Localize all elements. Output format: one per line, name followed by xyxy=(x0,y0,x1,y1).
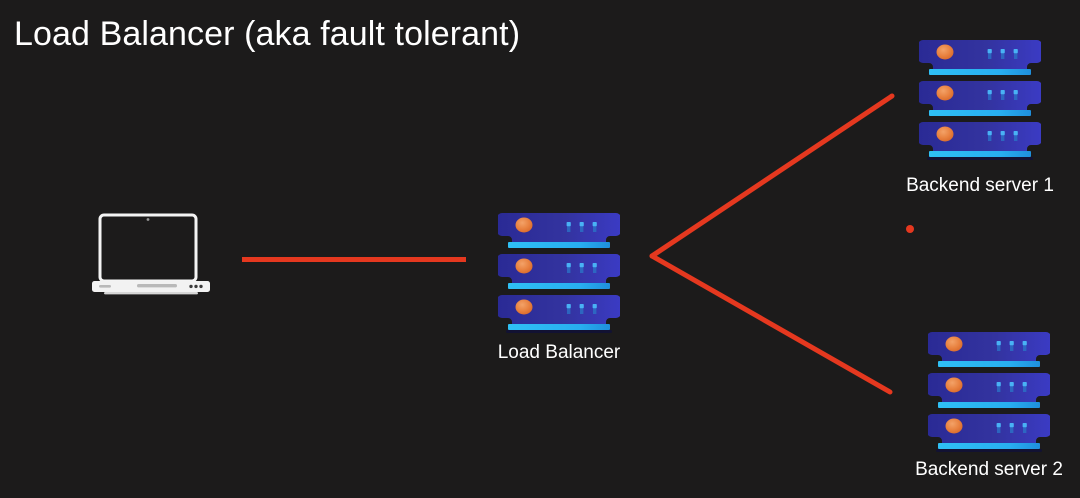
backend-server-2-label: Backend server 2 xyxy=(915,458,1063,482)
server-unit-2 xyxy=(919,81,1041,116)
connector-load-balancer-to-backend-2 xyxy=(652,256,890,392)
rack-base-shadow xyxy=(927,157,1033,160)
server-unit-2 xyxy=(498,254,620,289)
rack-base-shadow xyxy=(936,449,1042,452)
load-balancer-node[interactable]: Load Balancer xyxy=(498,211,620,333)
backend-server-1-label: Backend server 1 xyxy=(906,174,1054,198)
rack-base-shadow xyxy=(506,330,612,333)
server-rack-icon xyxy=(928,330,1050,452)
connector-load-balancer-to-backend-1 xyxy=(652,96,892,256)
status-dot-marker xyxy=(906,225,914,233)
server-unit-3 xyxy=(498,295,620,330)
server-unit-1 xyxy=(928,332,1050,367)
server-unit-1 xyxy=(498,213,620,248)
server-unit-2 xyxy=(928,373,1050,408)
backend-server-1-node[interactable]: Backend server 1 xyxy=(919,38,1041,160)
server-unit-3 xyxy=(928,414,1050,449)
backend-server-2-node[interactable]: Backend server 2 xyxy=(928,330,1050,452)
load-balancer-label: Load Balancer xyxy=(498,341,621,365)
server-rack-icon xyxy=(498,211,620,333)
slide-canvas: Load Balancer (aka fault tolerant) xyxy=(0,0,1080,498)
server-rack-icon xyxy=(919,38,1041,160)
server-unit-1 xyxy=(919,40,1041,75)
server-unit-3 xyxy=(919,122,1041,157)
laptop-icon xyxy=(92,213,210,297)
